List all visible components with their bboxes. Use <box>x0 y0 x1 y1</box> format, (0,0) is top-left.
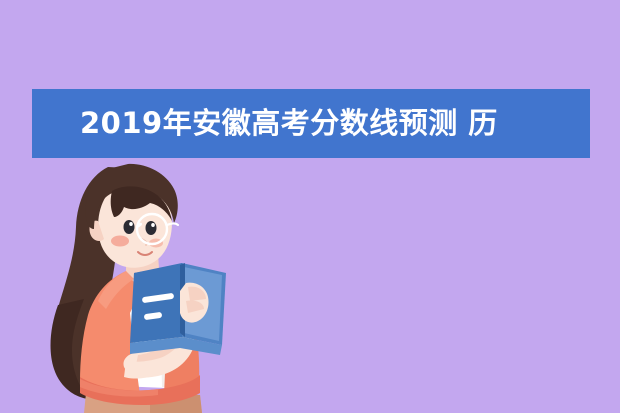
page-title: 2019年安徽高考分数线预测 历 <box>80 109 498 138</box>
girl-reading-book-illustration <box>30 155 245 413</box>
girl-reading-book-svg <box>30 155 245 413</box>
glasses-temple <box>167 224 178 226</box>
title-banner: 2019年安徽高考分数线预测 历 <box>32 89 590 158</box>
page-root: 2019年安徽高考分数线预测 历 <box>0 0 620 413</box>
right-eye-highlight <box>151 223 155 227</box>
right-eye <box>146 221 157 235</box>
left-cheek-blush <box>111 236 129 247</box>
book-left-pages <box>134 265 180 339</box>
left-eye-highlight <box>129 222 133 226</box>
left-eye <box>124 220 135 234</box>
